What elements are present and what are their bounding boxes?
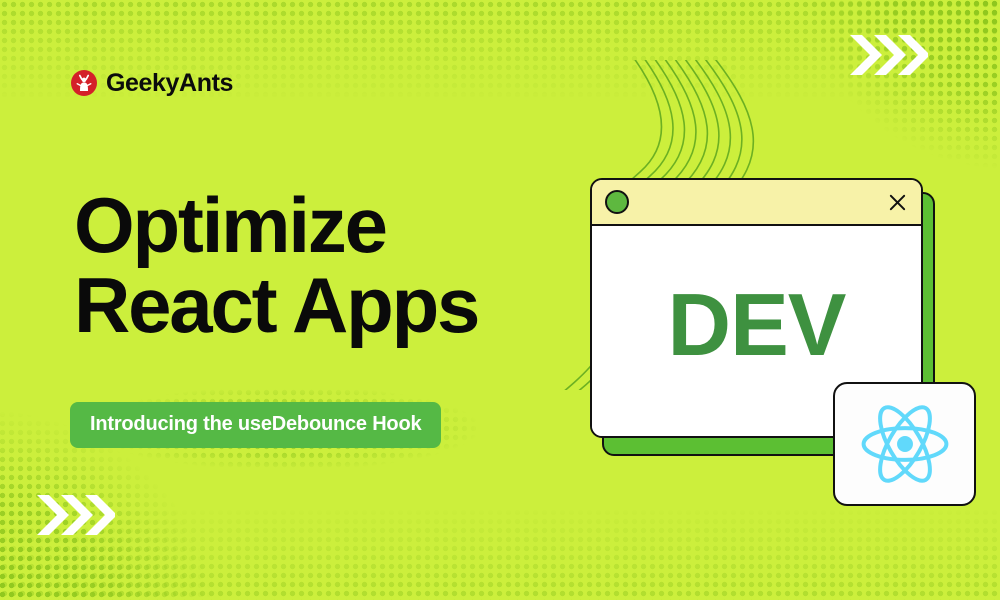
chevron-right-triple-icon [848, 32, 928, 78]
react-atom-icon [857, 401, 953, 487]
brand-logo: GeekyAnts [71, 70, 233, 96]
halftone-bottom-band [0, 490, 1000, 600]
dev-label: DEV [668, 281, 846, 369]
headline-line-1: Optimize [74, 181, 386, 269]
banner-canvas: GeekyAnts Optimize React Apps Introducin… [0, 0, 1000, 600]
geekyants-ant-mark-icon [71, 70, 97, 96]
close-icon[interactable] [888, 193, 907, 212]
subtitle-badge: Introducing the useDebounce Hook [70, 402, 441, 448]
brand-wordmark: GeekyAnts [106, 71, 233, 96]
chevron-right-triple-icon [35, 492, 115, 538]
halftone-bottom-left [0, 320, 310, 600]
window-titlebar [592, 180, 921, 226]
headline-line-2: React Apps [74, 266, 478, 346]
page-title: Optimize React Apps [74, 186, 478, 345]
react-logo-card [833, 382, 976, 506]
window-dot-icon [605, 190, 629, 214]
